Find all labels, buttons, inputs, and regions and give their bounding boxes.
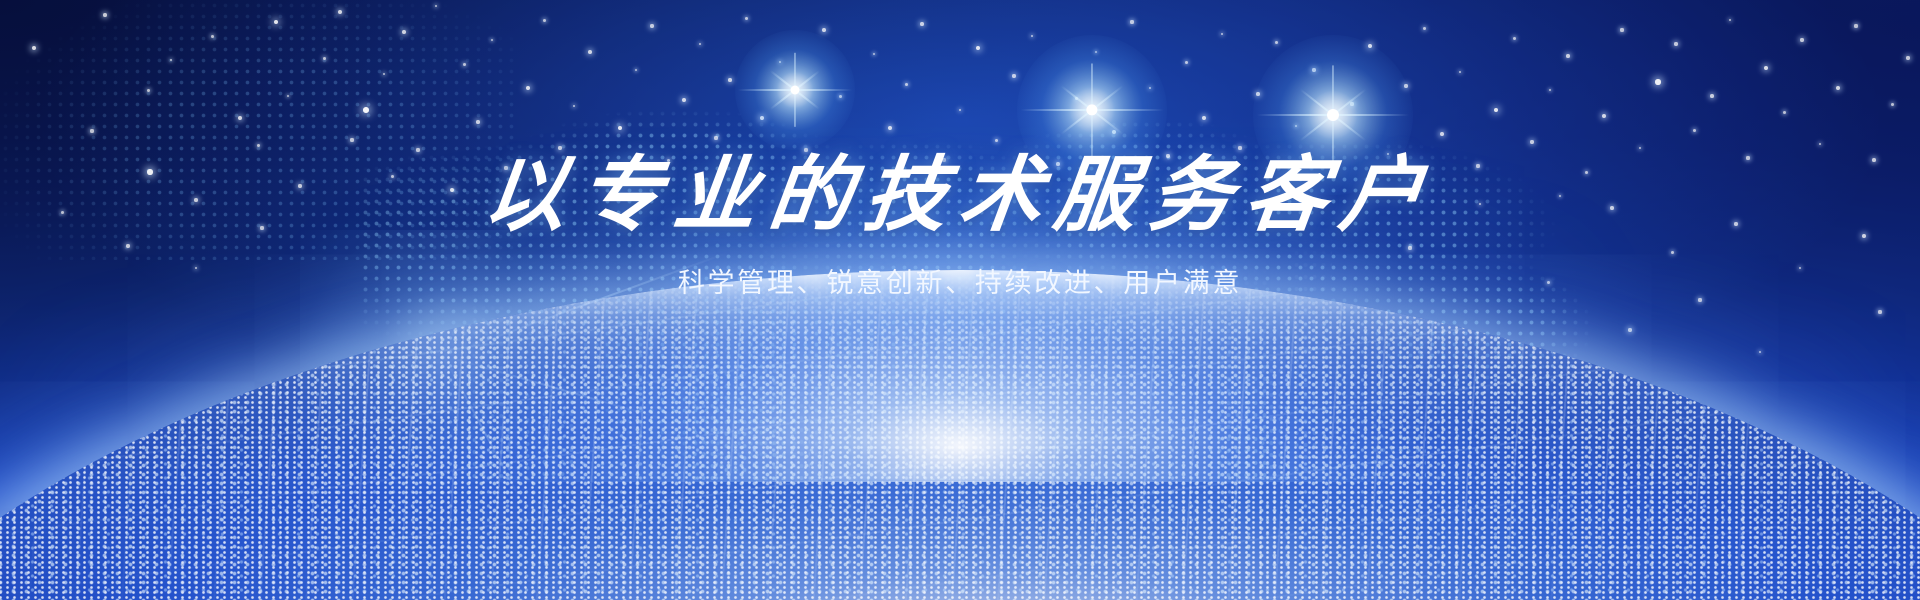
- hero-banner: 以专业的技术服务客户 科学管理、锐意创新、持续改进、用户满意: [0, 0, 1920, 600]
- banner-subheadline: 科学管理、锐意创新、持续改进、用户满意: [0, 266, 1920, 301]
- lens-flare-star-icon: [735, 30, 855, 150]
- earth-horizon-arc: [0, 270, 1920, 600]
- banner-headline: 以专业的技术服务客户: [0, 150, 1920, 240]
- city-street-grid: [0, 270, 1920, 600]
- banner-copy-block: 以专业的技术服务客户 科学管理、锐意创新、持续改进、用户满意: [0, 150, 1920, 301]
